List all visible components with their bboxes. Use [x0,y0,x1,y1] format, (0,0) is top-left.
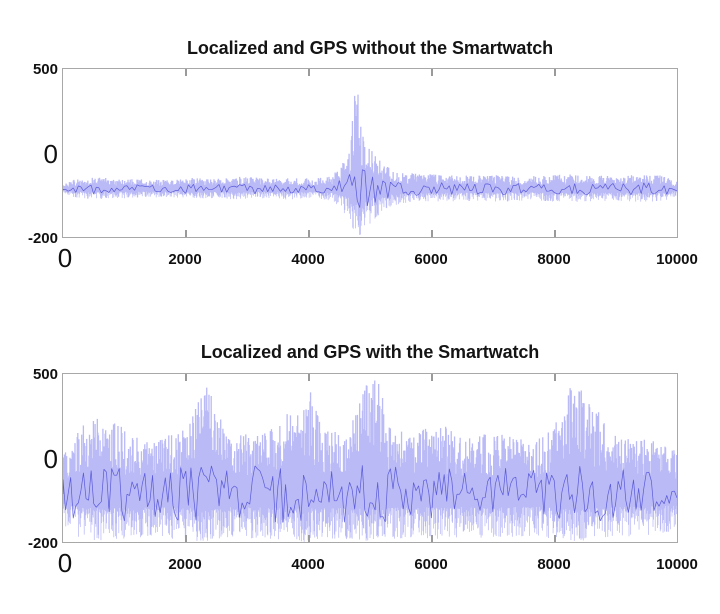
x-tick-label-8000-top: 8000 [537,251,570,268]
x-tick-top-2000-b [185,374,187,381]
x-tick-bottom-6000 [431,230,433,237]
x-tick-top-2000 [185,69,187,76]
plot-area-without-smartwatch [62,68,678,238]
x-tick-label-6000-top: 6000 [414,251,447,268]
x-tick-bottom-8000-b [554,535,556,542]
x-tick-label-6000-bottom: 6000 [414,556,447,573]
x-tick-label-4000-bottom: 4000 [291,556,324,573]
chart-panel-without-smartwatch: Localized and GPS without the Smartwatch… [0,0,720,300]
x-tick-bottom-8000 [554,230,556,237]
x-tick-top-8000 [554,69,556,76]
x-tick-label-0-top: 0 [58,243,72,274]
x-tick-label-4000-top: 4000 [291,251,324,268]
x-tick-top-4000 [308,69,310,76]
chart-panel-with-smartwatch: Localized and GPS with the Smartwatch 50… [0,305,720,614]
plot-area-with-smartwatch [62,373,678,543]
x-tick-label-8000-bottom: 8000 [537,556,570,573]
x-tick-label-2000-bottom: 2000 [168,556,201,573]
x-tick-bottom-4000 [308,230,310,237]
x-tick-label-10000-bottom: 10000 [656,556,698,573]
waveform-without-smartwatch [63,69,677,237]
x-tick-bottom-2000-b [185,535,187,542]
x-tick-label-10000-top: 10000 [656,251,698,268]
x-tick-label-0-bottom: 0 [58,548,72,579]
chart-title-with-smartwatch: Localized and GPS with the Smartwatch [60,342,680,363]
y-tick-label-500-bottom: 500 [33,366,58,383]
chart-title-without-smartwatch: Localized and GPS without the Smartwatch [60,38,680,59]
y-tick-label--200-bottom: -200 [28,535,58,552]
x-tick-top-6000-b [431,374,433,381]
x-tick-bottom-6000-b [431,535,433,542]
waveform-with-smartwatch [63,374,677,542]
y-tick-label-500-top: 500 [33,61,58,78]
y-tick-label-0-bottom: 0 [44,444,58,475]
x-tick-top-6000 [431,69,433,76]
y-tick-label--200-top: -200 [28,230,58,247]
y-tick-label-0-top: 0 [44,139,58,170]
x-tick-label-2000-top: 2000 [168,251,201,268]
x-tick-bottom-4000-b [308,535,310,542]
x-tick-top-8000-b [554,374,556,381]
x-tick-bottom-2000 [185,230,187,237]
x-tick-top-4000-b [308,374,310,381]
